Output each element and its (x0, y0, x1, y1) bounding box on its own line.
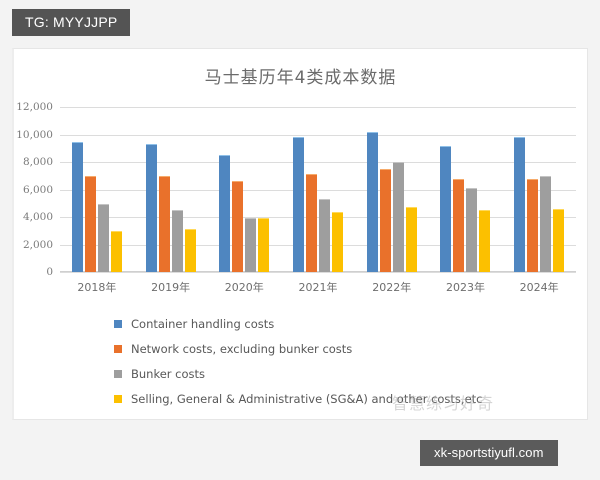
bar-groups (60, 107, 576, 272)
bar-group (429, 107, 503, 272)
chart-card: 马士基历年4类成本数据 12,00010,0008,0006,0004,0002… (12, 48, 588, 420)
y-axis-tick-label: 8,000 (23, 156, 53, 168)
bar[interactable] (98, 204, 109, 272)
bar-group (355, 107, 429, 272)
bar[interactable] (232, 181, 243, 272)
bar[interactable] (85, 176, 96, 272)
bar-group (502, 107, 576, 272)
tg-badge: TG: MYYJJPP (12, 9, 130, 36)
legend-item-label: Container handling costs (131, 317, 274, 331)
y-axis-tick-label: 2,000 (23, 239, 53, 251)
x-axis-tick-label: 2023年 (429, 279, 503, 295)
bar-group (60, 107, 134, 272)
x-axis-tick-label: 2019年 (134, 279, 208, 295)
chart-legend: Container handling costsNetwork costs, e… (114, 311, 574, 411)
bar[interactable] (146, 144, 157, 272)
bar[interactable] (219, 155, 230, 272)
legend-item[interactable]: Network costs, excluding bunker costs (114, 336, 574, 361)
bar[interactable] (440, 146, 451, 273)
bar[interactable] (172, 210, 183, 272)
legend-item[interactable]: Selling, General & Administrative (SG&A)… (114, 386, 574, 411)
bar[interactable] (514, 137, 525, 272)
x-axis-ticks: 2018年2019年2020年2021年2022年2023年2024年 (60, 279, 576, 295)
y-axis-tick-label: 0 (46, 266, 53, 278)
legend-swatch-icon (114, 320, 122, 328)
bar[interactable] (185, 229, 196, 272)
bar[interactable] (293, 137, 304, 272)
bar[interactable] (72, 142, 83, 272)
gridline (60, 272, 576, 273)
chart-title: 马士基历年4类成本数据 (14, 63, 587, 88)
bar[interactable] (306, 174, 317, 272)
legend-item-label: Network costs, excluding bunker costs (131, 342, 352, 356)
y-axis-tick-label: 10,000 (16, 129, 53, 141)
bar[interactable] (393, 162, 404, 272)
bar[interactable] (332, 212, 343, 273)
bar[interactable] (159, 176, 170, 272)
bar[interactable] (367, 132, 378, 272)
x-axis-tick-label: 2022年 (355, 279, 429, 295)
x-axis-tick-label: 2021年 (281, 279, 355, 295)
legend-swatch-icon (114, 345, 122, 353)
bar[interactable] (258, 218, 269, 272)
bar[interactable] (453, 179, 464, 273)
bar-group (207, 107, 281, 272)
plot-area: 12,00010,0008,0006,0004,0002,0000 (60, 107, 576, 272)
legend-swatch-icon (114, 370, 122, 378)
bar[interactable] (527, 179, 538, 273)
bar[interactable] (319, 199, 330, 272)
y-axis-tick-label: 12,000 (16, 101, 53, 113)
bar[interactable] (540, 176, 551, 272)
site-badge: xk-sportstiyufl.com (420, 440, 558, 466)
bar[interactable] (111, 231, 122, 272)
bar-group (281, 107, 355, 272)
screenshot-root: TG: MYYJJPP 马士基历年4类成本数据 12,00010,0008,00… (0, 0, 600, 480)
x-axis-tick-label: 2020年 (207, 279, 281, 295)
x-axis-tick-label: 2018年 (60, 279, 134, 295)
legend-item[interactable]: Container handling costs (114, 311, 574, 336)
legend-item[interactable]: Bunker costs (114, 361, 574, 386)
x-axis-tick-label: 2024年 (502, 279, 576, 295)
legend-item-label: Selling, General & Administrative (SG&A)… (131, 392, 483, 406)
bar[interactable] (466, 188, 477, 272)
legend-item-label: Bunker costs (131, 367, 205, 381)
bar-group (134, 107, 208, 272)
bar[interactable] (380, 169, 391, 272)
y-axis-tick-label: 4,000 (23, 211, 53, 223)
bar[interactable] (553, 209, 564, 272)
legend-swatch-icon (114, 395, 122, 403)
y-axis-tick-label: 6,000 (23, 184, 53, 196)
bar[interactable] (479, 210, 490, 272)
bar[interactable] (245, 218, 256, 272)
bar[interactable] (406, 207, 417, 272)
